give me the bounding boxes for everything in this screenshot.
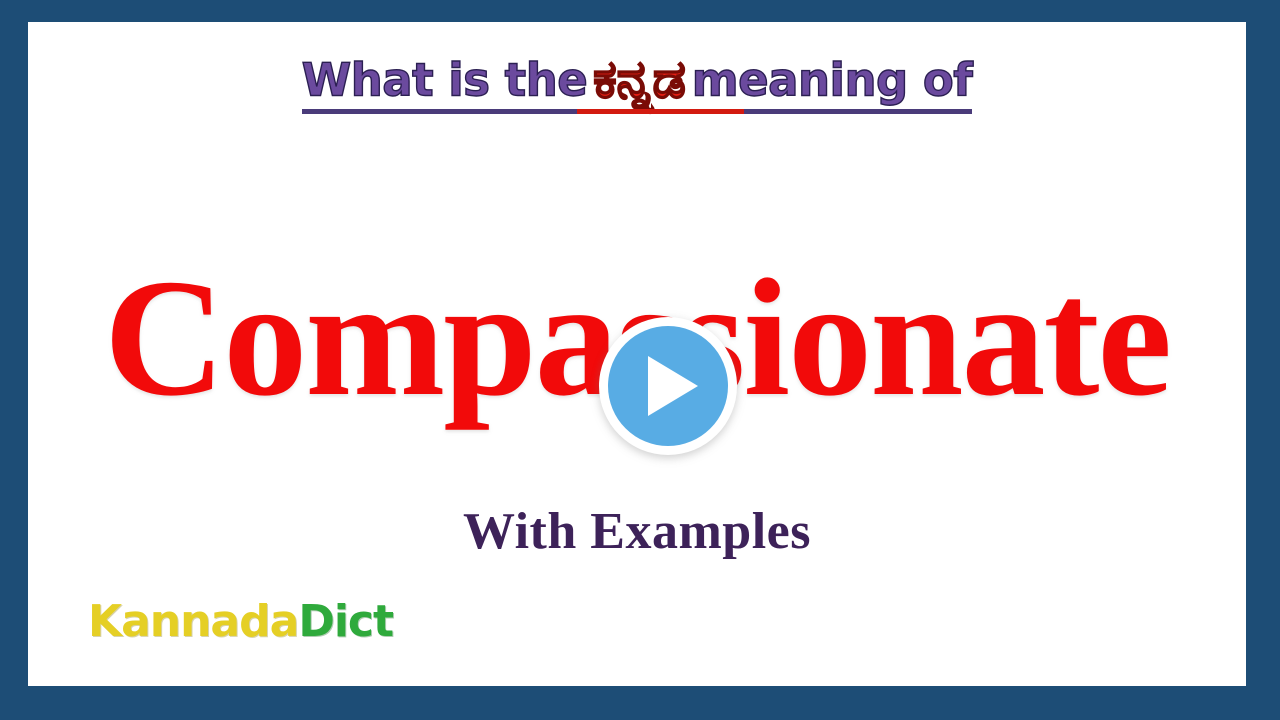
white-content-card: What is theಕನ್ನಡmeaning of Compassionate… bbox=[28, 22, 1246, 686]
underline-segment-left bbox=[302, 109, 577, 114]
play-icon bbox=[648, 356, 698, 416]
brand-logo-part-one: Kannada bbox=[88, 596, 298, 647]
slide-canvas: What is theಕನ್ನಡmeaning of Compassionate… bbox=[0, 0, 1280, 720]
header-suffix-text: meaning of bbox=[692, 54, 973, 107]
header-underline bbox=[302, 109, 973, 114]
subtitle-text: With Examples bbox=[28, 506, 1246, 558]
header-kannada-word: ಕನ್ನಡ bbox=[587, 51, 691, 109]
header-prefix-text: What is the bbox=[302, 54, 588, 107]
brand-logo-part-two: Dict bbox=[298, 596, 393, 647]
video-play-button[interactable] bbox=[599, 317, 737, 455]
play-button-disc[interactable] bbox=[608, 326, 728, 446]
underline-segment-right bbox=[744, 109, 972, 114]
header-question-inner: What is theಕನ್ನಡmeaning of bbox=[302, 54, 973, 114]
brand-logo[interactable]: KannadaDict bbox=[88, 600, 393, 644]
underline-segment-middle bbox=[577, 109, 745, 114]
header-question: What is theಕನ್ನಡmeaning of bbox=[28, 54, 1246, 114]
